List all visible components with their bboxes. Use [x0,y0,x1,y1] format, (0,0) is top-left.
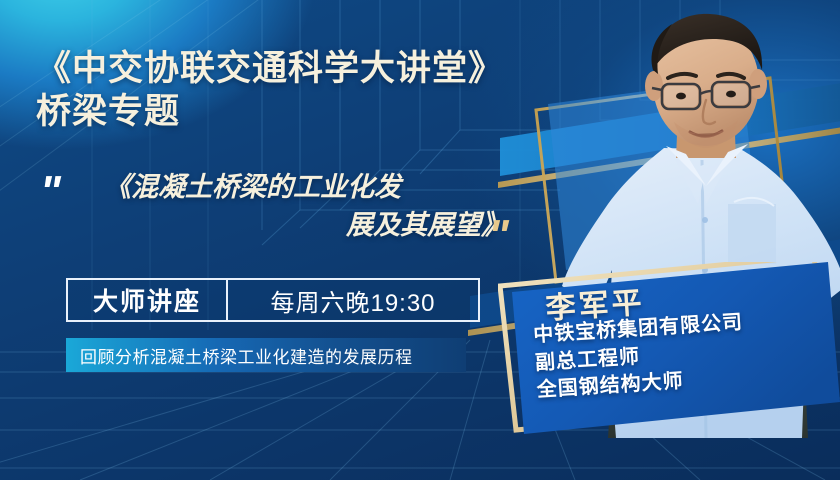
quote-close-icon: " [488,214,507,258]
lecture-title-block: " 《混凝土桥梁的工业化发 展及其展望》 " [36,168,556,268]
headline-line-1: 《中交协联交通科学大讲堂》 [36,49,504,88]
headline-line-2: 桥梁专题 [36,91,556,134]
schedule-box: 大师讲座 每周六晚19:30 [66,278,480,322]
subtitle-banner: 回顾分析混凝土桥梁工业化建造的发展历程 [66,338,466,372]
quote-open-icon: " [40,170,59,214]
speaker-info-panel: 李军平 中铁宝桥集团有限公司 副总工程师 全国钢结构大师 [498,262,840,448]
poster-headline: 《中交协联交通科学大讲堂》 桥梁专题 [36,48,556,133]
schedule-label: 大师讲座 [68,282,226,318]
lecture-title-line-2: 展及其展望》 [88,206,508,244]
poster-canvas: 《中交协联交通科学大讲堂》 桥梁专题 " 《混凝土桥梁的工业化发 展及其展望》 … [0,0,840,480]
speaker-panel-text: 李军平 中铁宝桥集团有限公司 副总工程师 全国钢结构大师 [497,241,840,448]
lecture-title-text: 《混凝土桥梁的工业化发 展及其展望》 [88,168,508,245]
schedule-time: 每周六晚19:30 [228,283,478,318]
subtitle-banner-text: 回顾分析混凝土桥梁工业化建造的发展历程 [66,343,413,368]
lecture-title-line-1: 《混凝土桥梁的工业化发 [88,168,508,206]
speaker-credentials: 中铁宝桥集团有限公司 副总工程师 全国钢结构大师 [533,304,828,405]
